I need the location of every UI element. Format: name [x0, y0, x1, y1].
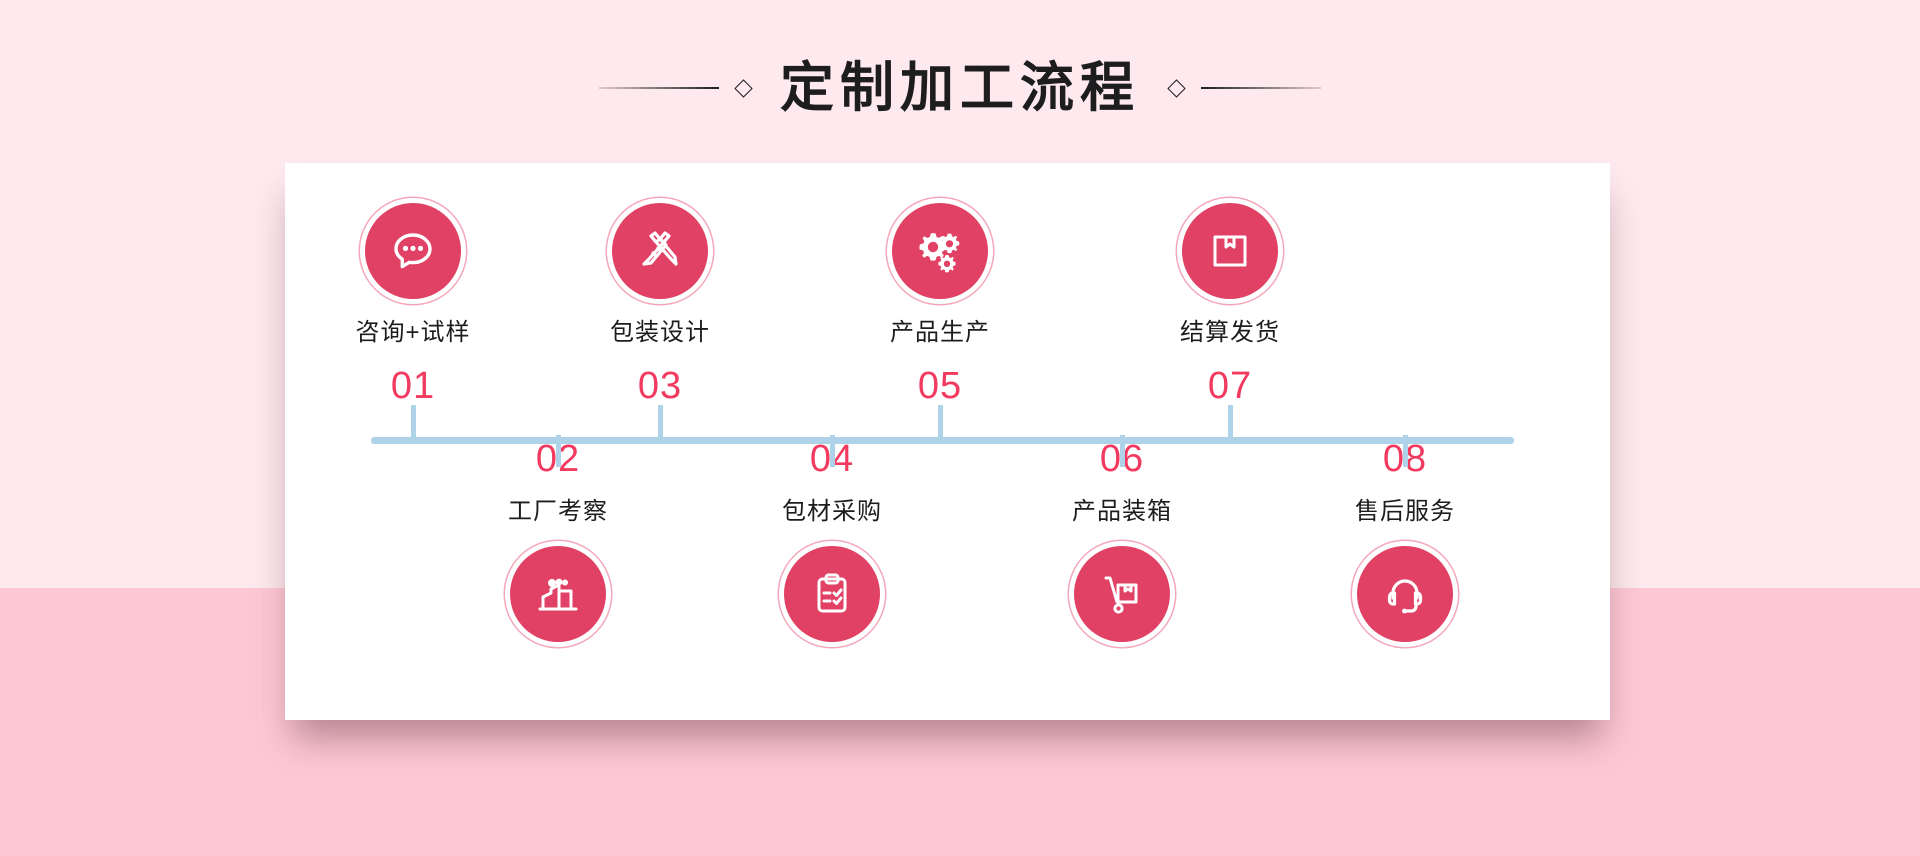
timeline-tick-04	[830, 435, 835, 467]
timeline-step-number: 05	[830, 367, 1050, 405]
page-header: 定制加工流程	[0, 48, 1920, 128]
clipboard-check-icon[interactable]	[784, 546, 880, 642]
chat-bubble-icon[interactable]	[365, 203, 461, 299]
timeline-step-04[interactable]: 04 包材采购	[722, 440, 942, 642]
timeline-tick-03	[658, 405, 663, 441]
timeline-step-01[interactable]: 咨询+试样 01	[303, 203, 523, 405]
ornament-diamond-right	[1167, 79, 1185, 97]
timeline-step-05[interactable]: 产品生产 05	[830, 203, 1050, 405]
timeline-step-02[interactable]: 02 工厂考察	[448, 440, 668, 642]
timeline-step-number: 01	[303, 367, 523, 405]
timeline-step-label: 工厂考察	[448, 500, 668, 524]
timeline-tick-02	[556, 435, 561, 467]
timeline-step-label: 售后服务	[1295, 500, 1515, 524]
timeline-step-label: 结算发货	[1120, 321, 1340, 345]
headset-icon[interactable]	[1357, 546, 1453, 642]
timeline-step-label: 产品生产	[830, 321, 1050, 345]
gears-icon[interactable]	[892, 203, 988, 299]
timeline-tick-01	[411, 405, 416, 441]
ornament-line-right	[1201, 87, 1321, 89]
process-card: 咨询+试样 01 02 工厂考察	[285, 163, 1610, 720]
package-box-icon[interactable]	[1182, 203, 1278, 299]
timeline-step-number: 03	[550, 367, 770, 405]
timeline-tick-06	[1120, 435, 1125, 467]
factory-icon[interactable]	[510, 546, 606, 642]
timeline-step-label: 包装设计	[550, 321, 770, 345]
page-title: 定制加工流程	[768, 61, 1152, 115]
timeline-tick-08	[1403, 435, 1408, 467]
timeline-tick-07	[1228, 405, 1233, 441]
timeline-step-06[interactable]: 06 产品装箱	[1012, 440, 1232, 642]
hand-truck-icon[interactable]	[1074, 546, 1170, 642]
ornament-line-left	[599, 87, 719, 89]
pencil-ruler-icon[interactable]	[612, 203, 708, 299]
timeline-tick-05	[938, 405, 943, 441]
timeline-step-number: 07	[1120, 367, 1340, 405]
ornament-diamond-left	[734, 79, 752, 97]
timeline-step-label: 包材采购	[722, 500, 942, 524]
timeline-step-08[interactable]: 08 售后服务	[1295, 440, 1515, 642]
timeline-step-03[interactable]: 包装设计 03	[550, 203, 770, 405]
timeline-step-07[interactable]: 结算发货 07	[1120, 203, 1340, 405]
timeline-step-label: 咨询+试样	[303, 321, 523, 345]
timeline-step-label: 产品装箱	[1012, 500, 1232, 524]
